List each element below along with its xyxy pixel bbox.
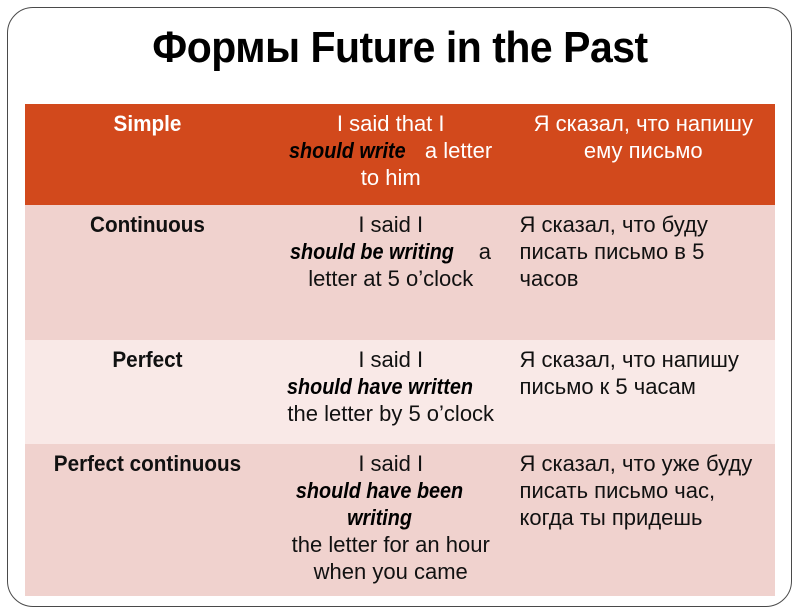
form-label: Perfect continuous	[32, 444, 262, 596]
page-title: Формы Future in the Past	[28, 22, 772, 74]
table-cell-form: Perfect	[25, 340, 270, 444]
verb-form-emphasis: should have written	[287, 373, 473, 400]
verb-form-emphasis: should be writing	[290, 238, 454, 265]
table-cell-russian: Я сказал, что напишу ему письмо	[512, 104, 775, 205]
table-cell-english: I said I should have been writing the le…	[270, 444, 512, 596]
russian-translation: Я сказал, что напишу письмо к 5 часам	[512, 340, 775, 408]
english-text-before: I said that I	[337, 111, 445, 136]
english-example: I said I should have written the letter …	[270, 340, 512, 435]
table-cell-russian: Я сказал, что буду писать письмо в 5 час…	[512, 205, 775, 340]
table-cell-english: I said that I should write a letter to h…	[270, 104, 512, 205]
english-text-before: I said I	[358, 347, 423, 372]
russian-translation: Я сказал, что напишу ему письмо	[512, 104, 775, 172]
form-label: Simple	[32, 104, 262, 205]
table-cell-russian: Я сказал, что уже буду писать письмо час…	[512, 444, 775, 596]
english-example: I said that I should write a letter to h…	[270, 104, 512, 199]
table-row: Perfect I said I should have written the…	[25, 340, 775, 444]
verb-form-emphasis: should write	[289, 137, 406, 164]
english-example: I said I should be writing a letter at 5…	[270, 205, 512, 300]
table-row: Continuous I said I should be writing a …	[25, 205, 775, 340]
table-cell-form: Continuous	[25, 205, 270, 340]
english-example: I said I should have been writing the le…	[270, 444, 512, 593]
english-text-after: the letter by 5 o’clock	[287, 401, 494, 426]
table-row: Perfect continuous I said I should have …	[25, 444, 775, 596]
form-label: Perfect	[32, 340, 262, 444]
table-row: Simple I said that I should write a lett…	[25, 104, 775, 205]
table-cell-english: I said I should have written the letter …	[270, 340, 512, 444]
verb-form-emphasis: should have been writing	[278, 477, 481, 531]
table-cell-russian: Я сказал, что напишу письмо к 5 часам	[512, 340, 775, 444]
english-text-after: the letter for an hour when you came	[292, 532, 490, 584]
form-label: Continuous	[32, 205, 262, 340]
table-cell-english: I said I should be writing a letter at 5…	[270, 205, 512, 340]
russian-translation: Я сказал, что уже буду писать письмо час…	[512, 444, 775, 539]
russian-translation: Я сказал, что буду писать письмо в 5 час…	[512, 205, 775, 300]
english-text-before: I said I	[358, 212, 423, 237]
future-in-the-past-table: Simple I said that I should write a lett…	[25, 104, 775, 596]
english-text-before: I said I	[358, 451, 423, 476]
table-cell-form: Simple	[25, 104, 270, 205]
table-cell-form: Perfect continuous	[25, 444, 270, 596]
